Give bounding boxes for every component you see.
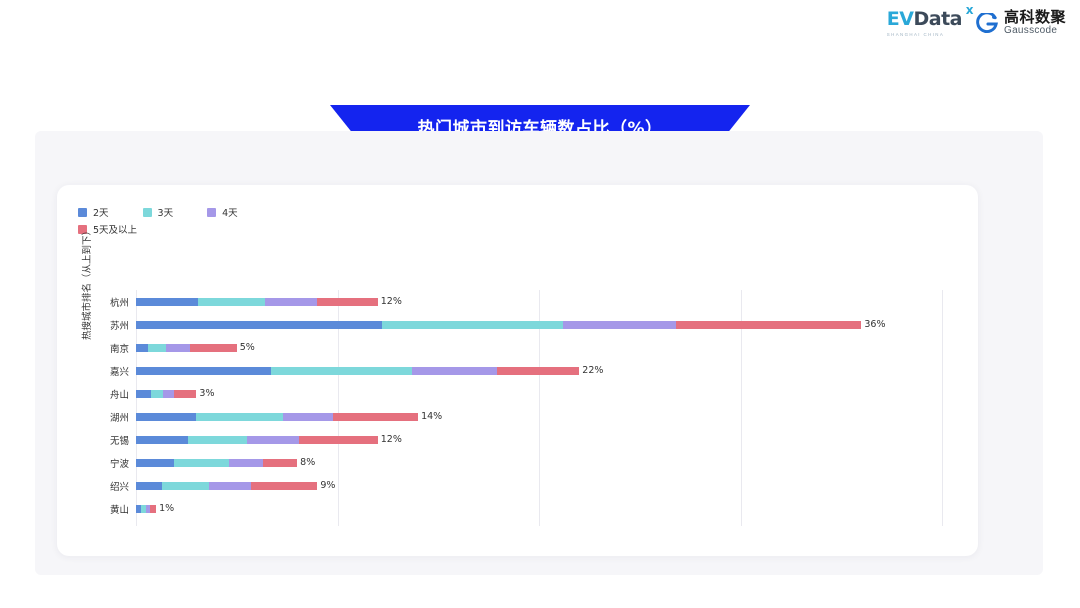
bar-segment-4天 xyxy=(166,344,190,352)
stacked-bar-wrapper: 12% xyxy=(136,436,402,444)
stacked-bar[interactable] xyxy=(136,367,579,375)
bar-segment-5天及以上 xyxy=(497,367,580,375)
bar-value-label: 12% xyxy=(381,298,402,306)
bar-segment-3天 xyxy=(198,298,264,306)
stacked-bar[interactable] xyxy=(136,413,418,421)
y-axis-label-湖州: 湖州 xyxy=(110,410,129,424)
bar-segment-5天及以上 xyxy=(150,505,156,513)
y-axis-title: 热搜城市排名（从上到下） xyxy=(79,226,93,340)
plot-area: 杭州12%苏州36%南京5%嘉兴22%舟山3%湖州14%无锡12%宁波8%绍兴9… xyxy=(136,290,942,520)
bar-segment-3天 xyxy=(151,390,163,398)
bar-segment-5天及以上 xyxy=(190,344,236,352)
bar-segment-3天 xyxy=(162,482,208,490)
bar-segment-5天及以上 xyxy=(299,436,378,444)
bar-value-label: 8% xyxy=(300,459,315,467)
bar-segment-2天 xyxy=(136,321,382,329)
stacked-bar-wrapper: 3% xyxy=(136,390,215,398)
stacked-bar[interactable] xyxy=(136,436,378,444)
bar-segment-5天及以上 xyxy=(263,459,297,467)
slide-page: EVDatax SHANGHAI CHINA 高科数聚 Gausscode 热门… xyxy=(0,0,1080,608)
y-axis-label-无锡: 无锡 xyxy=(110,433,129,447)
gausscode-text: 高科数聚 Gausscode xyxy=(1004,10,1066,36)
bar-row: 黄山1% xyxy=(136,497,942,520)
bar-segment-4天 xyxy=(563,321,676,329)
bar-segment-3天 xyxy=(382,321,563,329)
bar-segment-2天 xyxy=(136,413,196,421)
bar-segment-4天 xyxy=(229,459,263,467)
stacked-bar-wrapper: 1% xyxy=(136,505,174,513)
bar-segment-5天及以上 xyxy=(317,298,377,306)
bar-row: 苏州36% xyxy=(136,313,942,336)
bar-segment-3天 xyxy=(174,459,228,467)
stacked-bar-wrapper: 14% xyxy=(136,413,442,421)
stacked-bar[interactable] xyxy=(136,482,317,490)
bar-segment-4天 xyxy=(209,482,251,490)
stacked-bar[interactable] xyxy=(136,390,196,398)
y-axis-label-苏州: 苏州 xyxy=(110,318,129,332)
bar-value-label: 12% xyxy=(381,436,402,444)
stacked-bar-wrapper: 12% xyxy=(136,298,402,306)
bar-row: 绍兴9% xyxy=(136,474,942,497)
bar-segment-2天 xyxy=(136,436,188,444)
y-axis-label-南京: 南京 xyxy=(110,341,129,355)
gausscode-name-en: Gausscode xyxy=(1004,26,1066,37)
bar-row: 嘉兴22% xyxy=(136,359,942,382)
bar-row: 宁波8% xyxy=(136,451,942,474)
bar-row: 湖州14% xyxy=(136,405,942,428)
bar-segment-2天 xyxy=(136,459,174,467)
stacked-bar[interactable] xyxy=(136,505,156,513)
bar-segment-4天 xyxy=(247,436,299,444)
y-axis-label-杭州: 杭州 xyxy=(110,295,129,309)
evdata-suffix: Data xyxy=(913,8,962,30)
bar-value-label: 3% xyxy=(199,390,214,398)
y-axis-label-舟山: 舟山 xyxy=(110,387,129,401)
bar-value-label: 36% xyxy=(864,321,885,329)
stacked-bar[interactable] xyxy=(136,344,237,352)
y-axis-label-嘉兴: 嘉兴 xyxy=(110,364,129,378)
stacked-bar[interactable] xyxy=(136,459,297,467)
evdata-wordmark: EVDatax xyxy=(887,10,962,29)
bar-segment-2天 xyxy=(136,367,271,375)
bar-row: 杭州12% xyxy=(136,290,942,313)
bar-segment-3天 xyxy=(196,413,283,421)
bar-value-label: 9% xyxy=(320,482,335,490)
bar-segment-3天 xyxy=(188,436,246,444)
stacked-bar-wrapper: 9% xyxy=(136,482,335,490)
evdata-superscript-x: x xyxy=(966,4,973,16)
bar-segment-5天及以上 xyxy=(251,482,317,490)
bar-segment-2天 xyxy=(136,482,162,490)
chart-card: 2天3天4天5天及以上 热搜城市排名（从上到下） 杭州12%苏州36%南京5%嘉… xyxy=(57,185,978,556)
bar-value-label: 1% xyxy=(159,505,174,513)
gridline xyxy=(942,290,943,526)
y-axis-label-绍兴: 绍兴 xyxy=(110,479,129,493)
bar-value-label: 22% xyxy=(582,367,603,375)
evdata-tagline: SHANGHAI CHINA xyxy=(887,32,944,37)
bar-segment-4天 xyxy=(412,367,497,375)
stacked-bar-wrapper: 36% xyxy=(136,321,886,329)
stacked-bar-wrapper: 22% xyxy=(136,367,603,375)
bar-row: 舟山3% xyxy=(136,382,942,405)
gausscode-g-icon xyxy=(976,13,998,35)
y-axis-label-黄山: 黄山 xyxy=(110,502,129,516)
chart-area: 热搜城市排名（从上到下） 杭州12%苏州36%南京5%嘉兴22%舟山3%湖州14… xyxy=(57,185,978,556)
bar-segment-3天 xyxy=(271,367,412,375)
bar-rows: 杭州12%苏州36%南京5%嘉兴22%舟山3%湖州14%无锡12%宁波8%绍兴9… xyxy=(136,290,942,520)
bar-row: 南京5% xyxy=(136,336,942,359)
bar-segment-2天 xyxy=(136,390,151,398)
bar-row: 无锡12% xyxy=(136,428,942,451)
bar-segment-5天及以上 xyxy=(676,321,861,329)
y-axis-label-宁波: 宁波 xyxy=(110,456,129,470)
bar-segment-2天 xyxy=(136,344,148,352)
bar-segment-2天 xyxy=(136,298,198,306)
stacked-bar[interactable] xyxy=(136,298,378,306)
gausscode-name-cn: 高科数聚 xyxy=(1004,10,1066,26)
stacked-bar-wrapper: 8% xyxy=(136,459,315,467)
stacked-bar[interactable] xyxy=(136,321,861,329)
bar-value-label: 14% xyxy=(421,413,442,421)
bar-segment-3天 xyxy=(148,344,166,352)
bar-segment-5天及以上 xyxy=(333,413,418,421)
bar-value-label: 5% xyxy=(240,344,255,352)
gausscode-logo: 高科数聚 Gausscode xyxy=(976,10,1066,36)
bar-segment-4天 xyxy=(163,390,174,398)
bar-segment-5天及以上 xyxy=(174,390,196,398)
bar-segment-4天 xyxy=(283,413,333,421)
stacked-bar-wrapper: 5% xyxy=(136,344,255,352)
evdata-prefix: EV xyxy=(887,8,914,30)
evdata-logo: EVDatax SHANGHAI CHINA xyxy=(887,10,962,37)
bar-segment-4天 xyxy=(265,298,317,306)
brand-bar: EVDatax SHANGHAI CHINA 高科数聚 Gausscode xyxy=(887,10,1066,37)
